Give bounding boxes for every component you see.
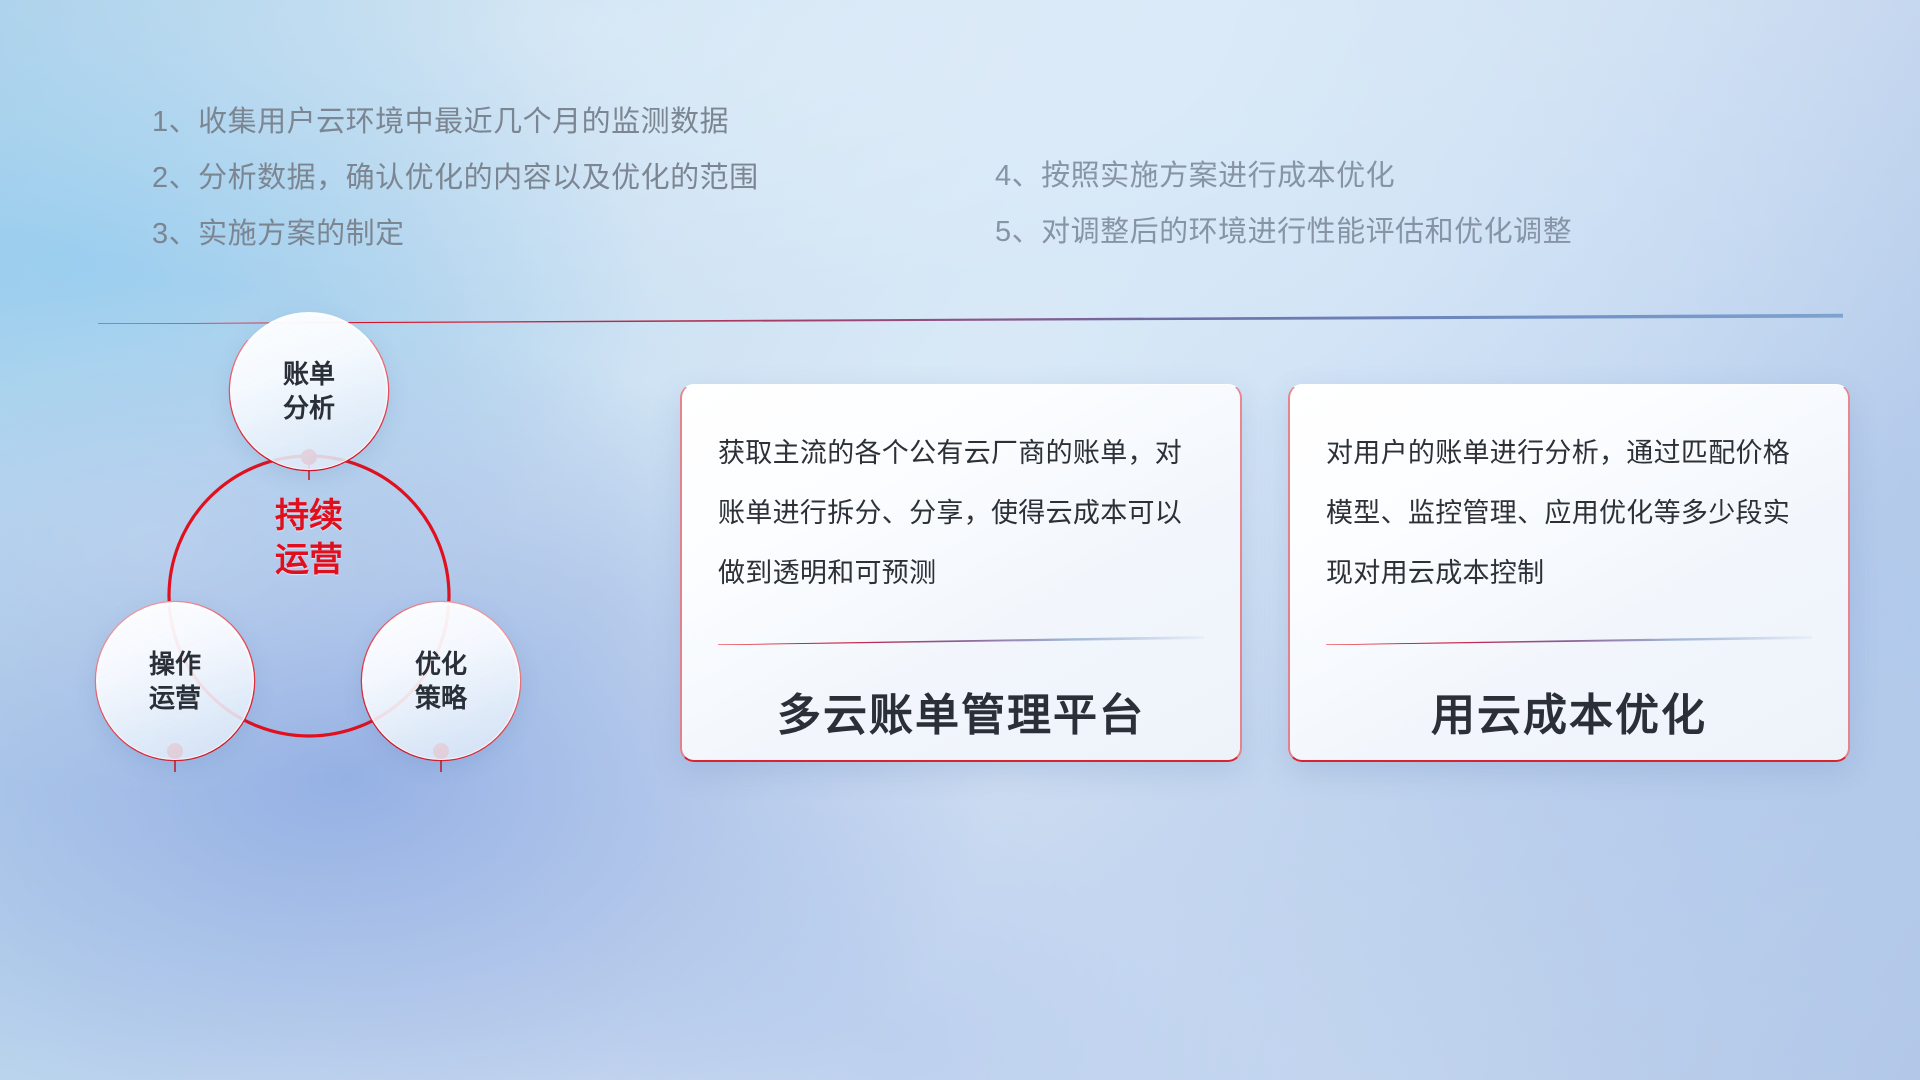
step-item: 1、收集用户云环境中最近几个月的监测数据: [152, 94, 759, 150]
step-item: 3、实施方案的制定: [152, 206, 759, 262]
card-body-text: 对用户的账单进行分析，通过匹配价格模型、监控管理、应用优化等多少段实现对用云成本…: [1326, 423, 1812, 619]
card-multicloud-billing-platform[interactable]: 获取主流的各个公有云厂商的账单，对账单进行拆分、分享，使得云成本可以做到透明和可…: [680, 384, 1242, 762]
step-item: 2、分析数据，确认优化的内容以及优化的范围: [152, 150, 759, 206]
bubble-label-line1: 操作: [149, 647, 201, 681]
step-item: 5、对调整后的环境进行性能评估和优化调整: [995, 204, 1572, 260]
card-title: 多云账单管理平台: [718, 679, 1204, 743]
card-rule-left: [718, 635, 1204, 645]
bubble-label-line1: 账单: [283, 357, 335, 391]
venn-bubble-operations[interactable]: 操作 运营: [96, 602, 254, 760]
venn-bubble-optimization-strategy[interactable]: 优化 策略: [362, 602, 520, 760]
bubble-label-line2: 分析: [283, 391, 335, 425]
venn-center-label-line1: 持续: [230, 494, 388, 538]
step-item: 4、按照实施方案进行成本优化: [995, 148, 1572, 204]
card-rule-right: [1326, 635, 1812, 645]
card-cloud-cost-optimization[interactable]: 对用户的账单进行分析，通过匹配价格模型、监控管理、应用优化等多少段实现对用云成本…: [1288, 384, 1850, 762]
steps-list-left: 1、收集用户云环境中最近几个月的监测数据 2、分析数据，确认优化的内容以及优化的…: [152, 94, 759, 262]
steps-list-right: 4、按照实施方案进行成本优化 5、对调整后的环境进行性能评估和优化调整: [995, 148, 1572, 260]
bubble-label-line2: 策略: [415, 681, 467, 715]
continuous-operations-diagram: 持续 运营 账单 分析 操作 运营 优化 策略: [90, 340, 620, 860]
bubble-label-line1: 优化: [415, 647, 467, 681]
card-title: 用云成本优化: [1326, 679, 1812, 743]
venn-center-label: 持续 运营: [230, 494, 388, 582]
bubble-label-line2: 运营: [149, 681, 201, 715]
card-body-text: 获取主流的各个公有云厂商的账单，对账单进行拆分、分享，使得云成本可以做到透明和可…: [718, 423, 1204, 619]
section-divider: [98, 313, 1843, 324]
venn-center-label-line2: 运营: [230, 538, 388, 582]
venn-bubble-bill-analysis[interactable]: 账单 分析: [230, 312, 388, 470]
